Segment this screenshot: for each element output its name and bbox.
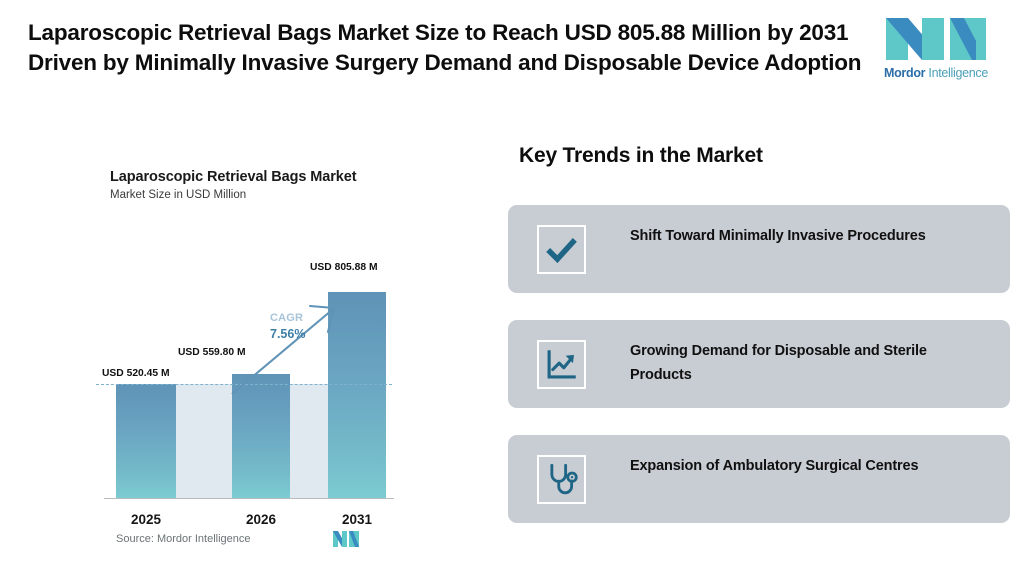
- cagr-value: 7.56%: [270, 327, 305, 341]
- brand-wordmark: Mordor Intelligence: [880, 66, 992, 80]
- trend-card-label: Growing Demand for Disposable and Steril…: [630, 339, 990, 387]
- source-text: Source: Mordor Intelligence: [116, 533, 251, 545]
- key-trends-title: Key Trends in the Market: [519, 144, 763, 168]
- bar-label-2025: USD 520.45 M: [102, 368, 170, 379]
- trend-card-label: Shift Toward Minimally Invasive Procedur…: [630, 224, 990, 248]
- trend-card-disposable-sterile[interactable]: Growing Demand for Disposable and Steril…: [508, 320, 1010, 408]
- trend-card-ambulatory-centres[interactable]: Expansion of Ambulatory Surgical Centres: [508, 435, 1010, 523]
- x-tick-2025: 2025: [116, 512, 176, 527]
- x-axis-line: [104, 498, 394, 499]
- trend-card-label: Expansion of Ambulatory Surgical Centres: [630, 454, 990, 478]
- trend-card-minimally-invasive[interactable]: Shift Toward Minimally Invasive Procedur…: [508, 205, 1010, 293]
- bar-label-2031: USD 805.88 M: [310, 262, 378, 273]
- chart-title: Laparoscopic Retrieval Bags Market: [110, 169, 356, 185]
- bar-2025: [116, 384, 176, 498]
- key-trends-panel: Key Trends in the Market Shift Toward Mi…: [508, 130, 1036, 583]
- line-chart-up-icon: [537, 340, 586, 389]
- stethoscope-icon: [537, 455, 586, 504]
- brand-logo: Mordor Intelligence: [880, 14, 992, 86]
- market-size-chart: Laparoscopic Retrieval Bags Market Marke…: [0, 130, 470, 583]
- cagr-label: CAGR: [270, 312, 303, 324]
- x-tick-2026: 2026: [232, 512, 290, 527]
- check-icon: [537, 225, 586, 274]
- chart-subtitle: Market Size in USD Million: [110, 189, 246, 201]
- brand-word-mordor: Mordor: [884, 66, 925, 80]
- brand-word-intelligence: Intelligence: [925, 66, 988, 80]
- mordor-intelligence-mini-logo-icon: [332, 530, 360, 548]
- chart-plot-area: USD 520.45 M USD 559.80 M USD 805.88 M C…: [110, 220, 388, 540]
- chart-source-row: Source: Mordor Intelligence: [110, 530, 390, 554]
- page-title: Laparoscopic Retrieval Bags Market Size …: [28, 18, 863, 78]
- mordor-intelligence-logo-icon: [880, 14, 992, 64]
- page-header: Laparoscopic Retrieval Bags Market Size …: [0, 0, 1036, 118]
- x-tick-2031: 2031: [328, 512, 386, 527]
- filler-bar: [176, 384, 232, 498]
